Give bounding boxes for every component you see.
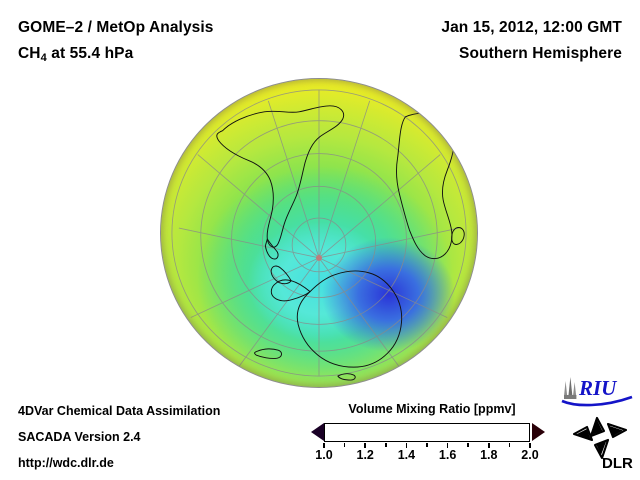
- riu-logo: RIU: [560, 374, 634, 408]
- instrument-title: GOME–2 / MetOp Analysis: [18, 19, 214, 37]
- footer-line-assimilation: 4DVar Chemical Data Assimilation: [18, 404, 220, 418]
- colorbar-minor-tick: [385, 443, 387, 447]
- colorbar-extend-min-arrow: [311, 423, 324, 441]
- coastlines: [217, 106, 464, 380]
- colorbar-extend-max-arrow: [532, 423, 545, 441]
- globe-field: [160, 78, 478, 388]
- colorbar-tick-label: 1.8: [480, 448, 497, 462]
- colorbar-title: Volume Mixing Ratio [ppmv]: [334, 402, 530, 416]
- pressure-label: at 55.4 hPa: [47, 45, 134, 62]
- colorbar-gradient: [324, 423, 530, 442]
- colorbar: [310, 421, 546, 445]
- globe-overlay: [161, 79, 477, 387]
- species-pressure-title: CH4 at 55.4 hPa: [18, 45, 133, 64]
- riu-wordmark: RIU: [578, 376, 618, 400]
- colorbar-tick-label: 1.6: [439, 448, 456, 462]
- graticule: [172, 90, 466, 376]
- colorbar-minor-tick: [509, 443, 511, 447]
- colorbar-tick-label: 1.2: [356, 448, 373, 462]
- colorbar-minor-tick: [344, 443, 346, 447]
- colorbar-tick-label: 2.0: [521, 448, 538, 462]
- dlr-logo: DLR: [564, 414, 636, 472]
- south-pole-marker: [316, 255, 322, 261]
- region-label: Southern Hemisphere: [459, 45, 622, 63]
- riu-towers-icon: [564, 377, 576, 399]
- footer-line-version: SACADA Version 2.4: [18, 430, 141, 444]
- species-label: CH: [18, 45, 41, 62]
- colorbar-minor-tick: [467, 443, 469, 447]
- colorbar-tick-labels: 1.01.21.41.61.82.0: [310, 448, 546, 466]
- colorbar-tick-label: 1.4: [398, 448, 415, 462]
- globe-map: [160, 78, 478, 388]
- colorbar-tick-label: 1.0: [315, 448, 332, 462]
- footer-line-url[interactable]: http://wdc.dlr.de: [18, 456, 114, 470]
- datetime-label: Jan 15, 2012, 12:00 GMT: [441, 19, 622, 37]
- dlr-wordmark: DLR: [602, 455, 633, 472]
- colorbar-minor-tick: [426, 443, 428, 447]
